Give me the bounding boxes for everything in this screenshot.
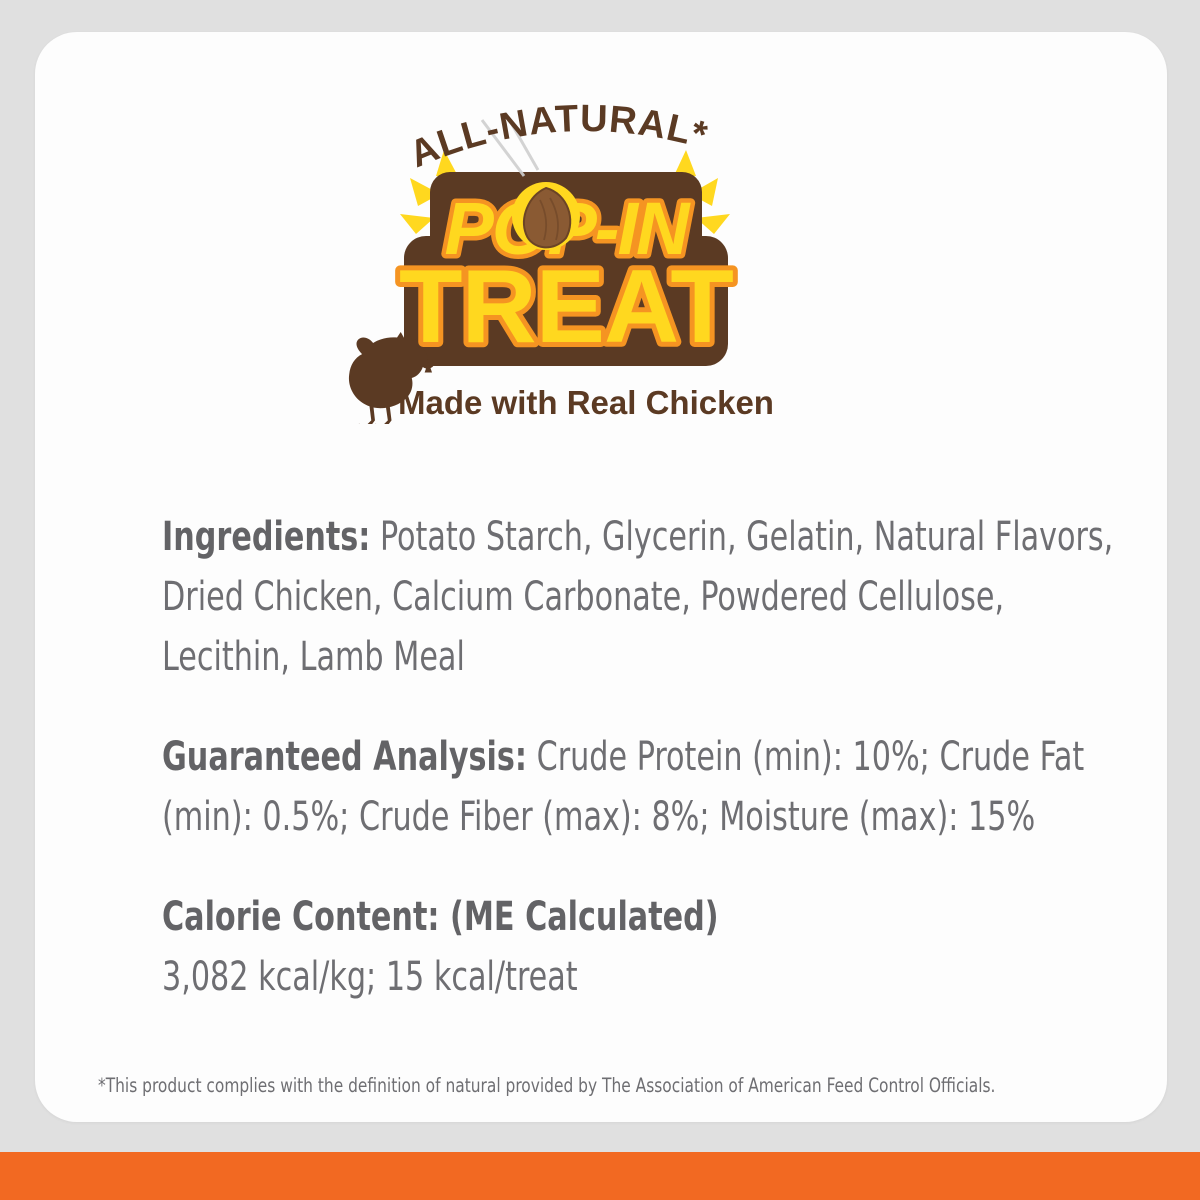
- logo-word-treat: TREAT TREAT: [399, 249, 733, 365]
- ingredients-label: Ingredients:: [162, 514, 370, 560]
- brand-logo-block: POP-IN POP-IN: [35, 32, 1167, 432]
- treat-piece-icon: [512, 182, 580, 250]
- svg-text:TREAT: TREAT: [399, 249, 733, 365]
- pop-in-treat-logo: POP-IN POP-IN: [300, 84, 830, 424]
- ingredients-paragraph: Ingredients: Potato Starch, Glycerin, Ge…: [162, 507, 1120, 687]
- calorie-content-paragraph: Calorie Content: (ME Calculated) 3,082 k…: [162, 887, 1120, 1007]
- logo-tagline-bottom: Made with Real Chicken: [398, 384, 774, 421]
- calorie-content-value: 3,082 kcal/kg; 15 kcal/treat: [162, 954, 578, 1000]
- page-root: POP-IN POP-IN: [0, 0, 1200, 1200]
- nutrition-text-block: Ingredients: Potato Starch, Glycerin, Ge…: [162, 467, 1112, 1007]
- bottom-orange-bar: [0, 1152, 1200, 1200]
- natural-definition-footnote: *This product complies with the definiti…: [98, 1073, 1013, 1099]
- calorie-content-label: Calorie Content: (ME Calculated): [162, 894, 719, 940]
- guaranteed-analysis-label: Guaranteed Analysis:: [162, 734, 527, 780]
- product-info-card: POP-IN POP-IN: [35, 32, 1167, 1122]
- guaranteed-analysis-paragraph: Guaranteed Analysis: Crude Protein (min)…: [162, 727, 1120, 847]
